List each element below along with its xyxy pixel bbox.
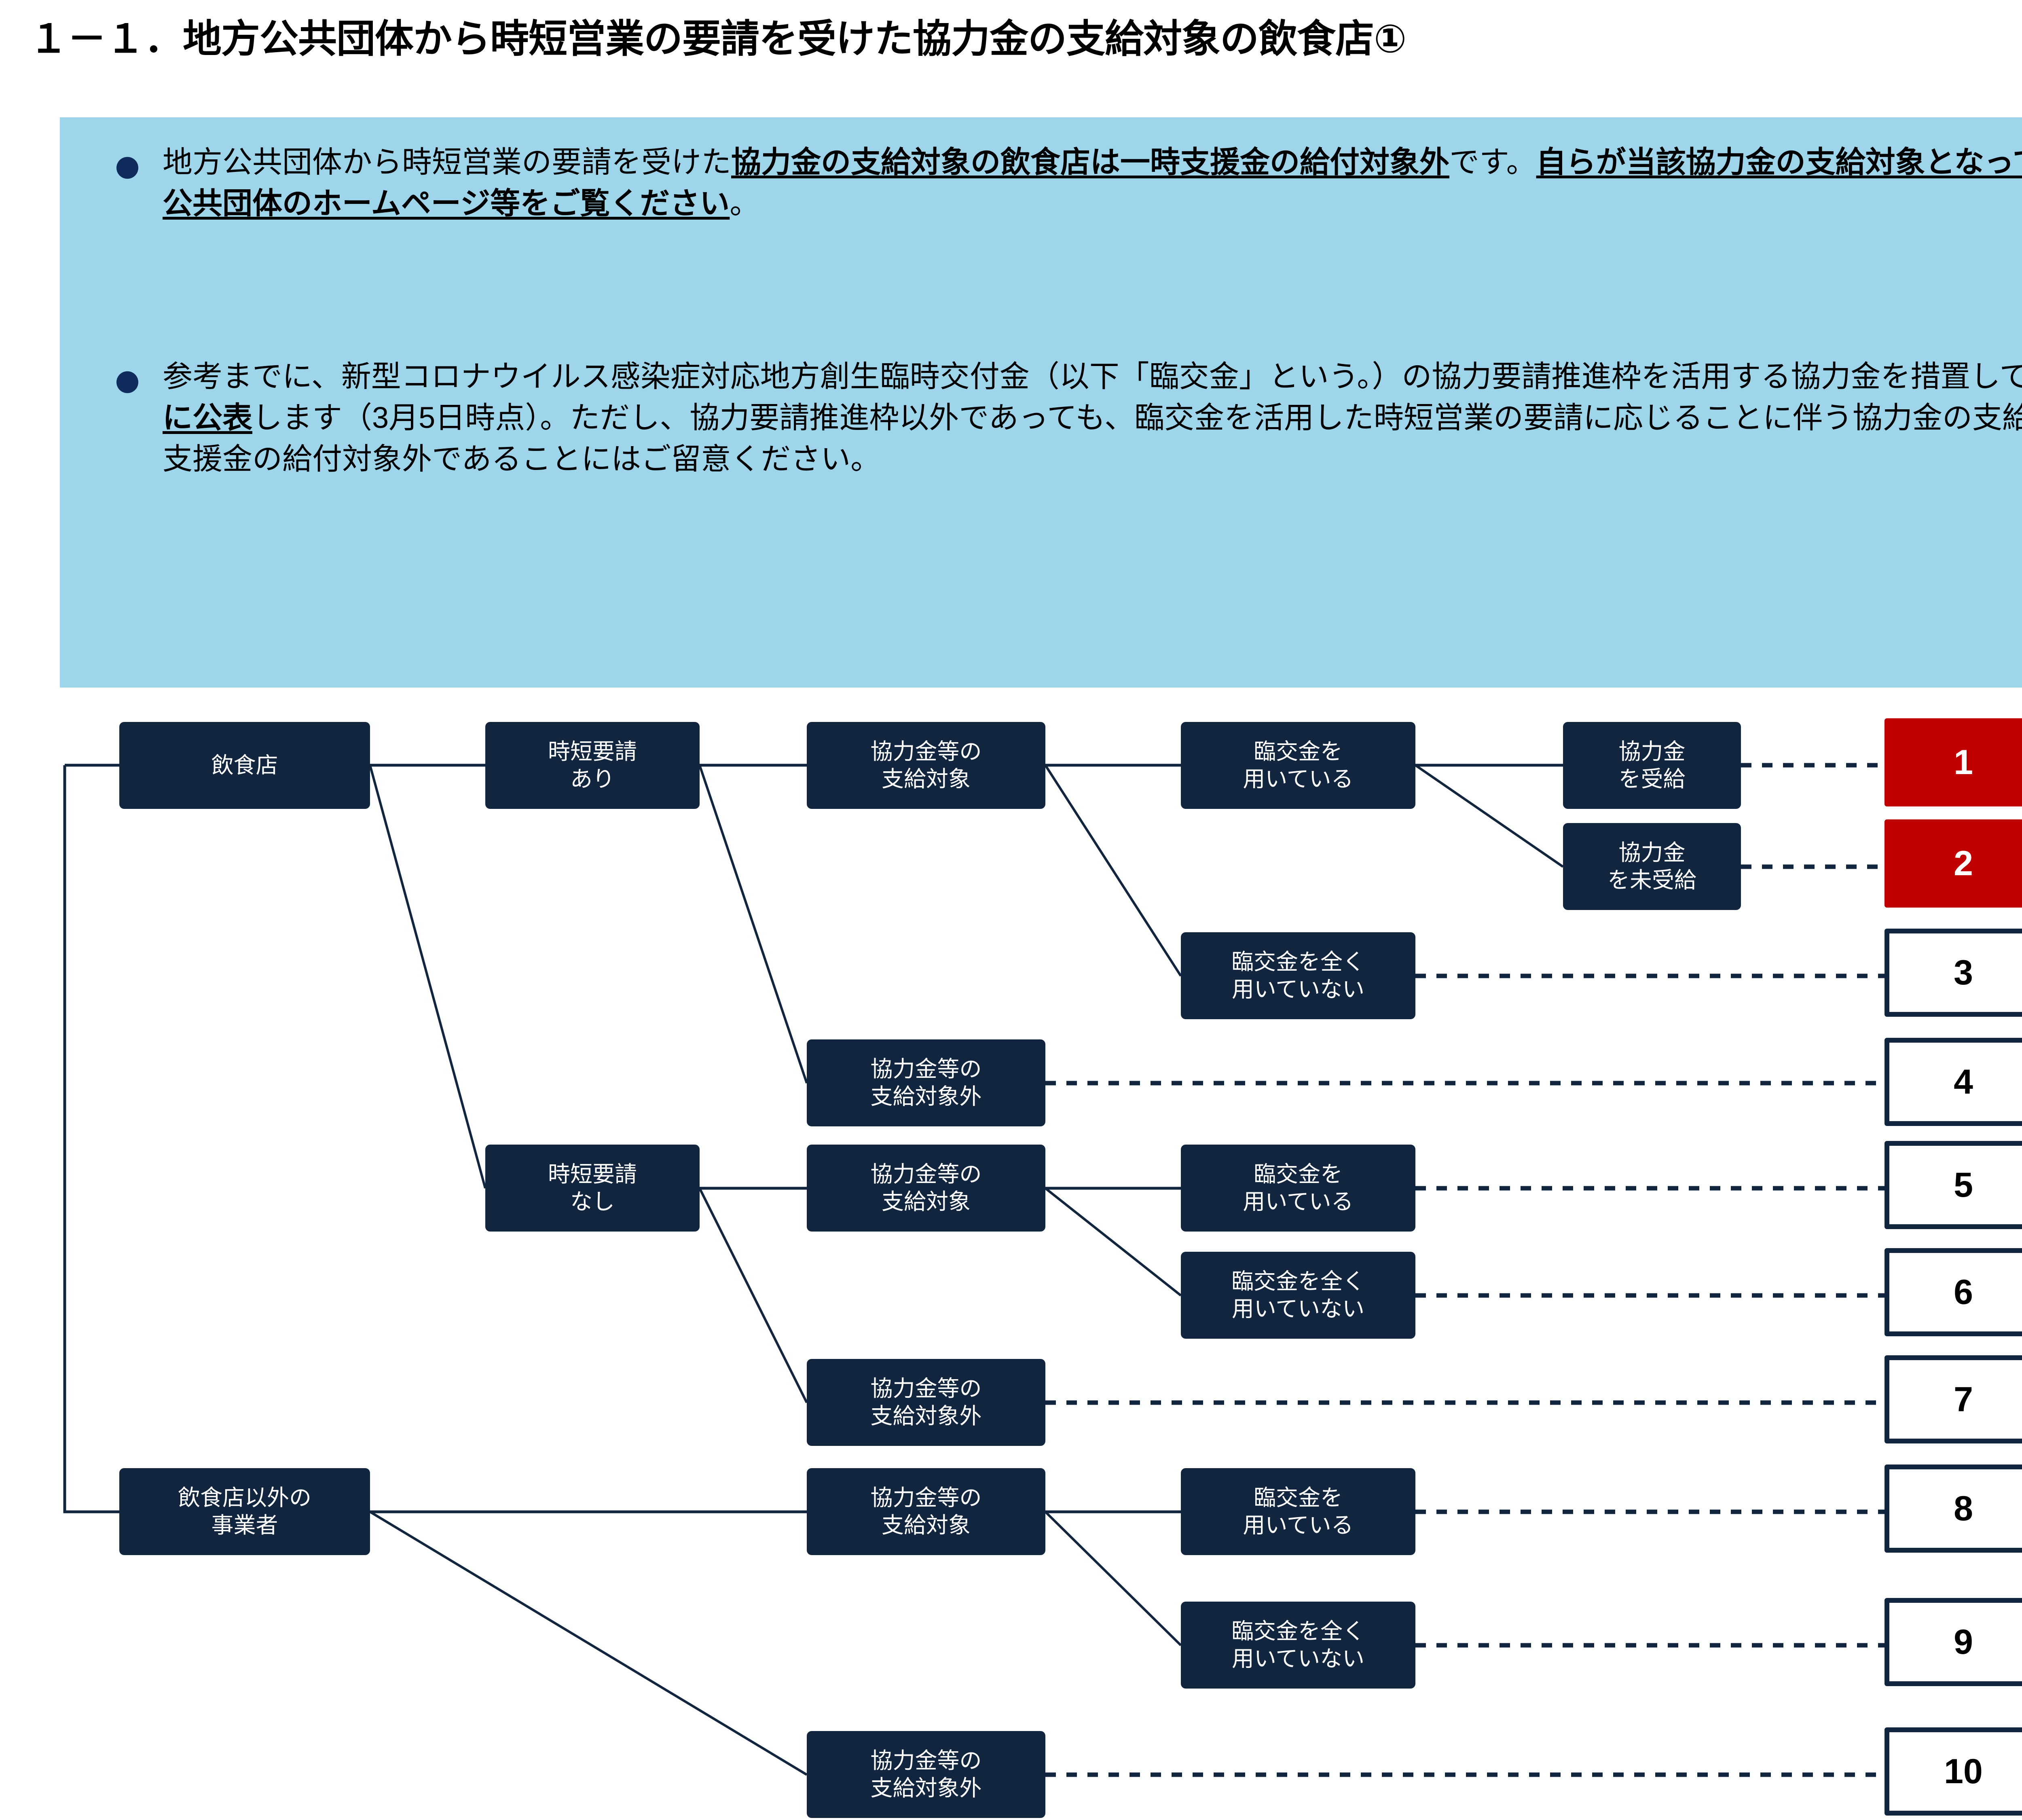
diagram-node-line: なし <box>570 1188 615 1215</box>
outcome-box-6: 6 <box>1885 1248 2022 1336</box>
outcome-box-9: 9 <box>1885 1598 2022 1686</box>
diagram-node-line: 協力金等の <box>870 1484 981 1511</box>
outcome-box-4: 4 <box>1885 1038 2022 1126</box>
note-bullet-2-text: 参考までに、新型コロナウイルス感染症対応地方創生臨時交付金（以下「臨交金」という… <box>163 356 2022 480</box>
outcome-box-7: 7 <box>1885 1355 2022 1443</box>
diagram-node-line: 臨交金を全く <box>1231 948 1365 976</box>
diagram-node-non-restaurant: 飲食店以外の事業者 <box>119 1468 370 1555</box>
note-bullet-1: 地方公共団体から時短営業の要請を受けた協力金の支給対象の飲食店は一時支援金の給付… <box>60 142 2022 224</box>
diagram-node-line: 協力金等の <box>870 738 981 765</box>
note-bullet-1-text: 地方公共団体から時短営業の要請を受けた協力金の支給対象の飲食店は一時支援金の給付… <box>163 142 2022 224</box>
diagram-node-rinkou-unused-3: 臨交金を全く用いていない <box>1181 1602 1415 1689</box>
diagram-node-req-no: 時短要請なし <box>485 1145 700 1232</box>
diagram-node-line: 支給対象外 <box>870 1403 981 1430</box>
outcome-box-8: 8 <box>1885 1464 2022 1553</box>
diagram-node-req-yes: 時短要請あり <box>485 722 700 809</box>
note-plain-text: 。 <box>730 186 759 220</box>
decision-tree-diagram: 飲食店時短要請あり協力金等の支給対象臨交金を用いている協力金を受給協力金を未受給… <box>0 704 2022 1820</box>
diagram-node-line: 用いている <box>1243 1188 1353 1215</box>
note-plain-text: 地方公共団体から時短営業の要請を受けた <box>163 145 731 179</box>
page-title: １－１．地方公共団体から時短営業の要請を受けた協力金の支給対象の飲食店① <box>29 7 2022 63</box>
outcome-box-5: 5 <box>1885 1141 2022 1229</box>
diagram-node-line: 支給対象外 <box>870 1083 981 1110</box>
diagram-node-line: 臨交金を <box>1254 1484 1343 1511</box>
diagram-node-subsidy-no-1: 協力金等の支給対象外 <box>807 1039 1045 1126</box>
diagram-node-coop-not-received: 協力金を未受給 <box>1563 823 1741 910</box>
diagram-node-subsidy-yes-2: 協力金等の支給対象 <box>807 1145 1045 1232</box>
diagram-node-subsidy-yes-3: 協力金等の支給対象 <box>807 1468 1045 1555</box>
diagram-node-subsidy-no-3: 協力金等の支給対象外 <box>807 1731 1045 1818</box>
diagram-node-line: 臨交金を <box>1254 738 1343 765</box>
diagram-node-rinkou-unused-2: 臨交金を全く用いていない <box>1181 1252 1415 1339</box>
diagram-node-line: あり <box>570 766 615 793</box>
diagram-node-rinkou-used-3: 臨交金を用いている <box>1181 1468 1415 1555</box>
note-emphasis-text: 協力金の支給対象の飲食店は一時支援金の給付対象外 <box>731 145 1449 179</box>
note-plain-text: です。 <box>1449 145 1536 179</box>
diagram-node-line: 用いていない <box>1232 1645 1364 1672</box>
diagram-node-line: 用いている <box>1243 766 1353 793</box>
outcome-box-10: 10 <box>1885 1727 2022 1816</box>
diagram-node-coop-received: 協力金を受給 <box>1563 722 1741 809</box>
diagram-node-line: 用いていない <box>1232 1295 1364 1323</box>
diagram-node-line: 時短要請 <box>548 738 637 765</box>
diagram-node-line: 臨交金を全く <box>1231 1268 1365 1295</box>
diagram-node-line: 用いていない <box>1232 976 1364 1003</box>
diagram-node-line: 協力金 <box>1618 738 1685 765</box>
diagram-node-rinkou-used-2: 臨交金を用いている <box>1181 1145 1415 1232</box>
diagram-node-line: を未受給 <box>1607 867 1696 894</box>
outcome-box-1: 1 <box>1885 718 2022 806</box>
note-callout-box: 地方公共団体から時短営業の要請を受けた協力金の支給対象の飲食店は一時支援金の給付… <box>60 117 2022 688</box>
bullet-dot-icon <box>116 157 138 179</box>
diagram-node-subsidy-no-2: 協力金等の支給対象外 <box>807 1359 1045 1446</box>
diagram-node-line: 支給対象外 <box>870 1775 981 1802</box>
diagram-node-line: 臨交金を <box>1254 1161 1343 1188</box>
diagram-node-line: 支給対象 <box>882 766 971 793</box>
diagram-node-rinkou-unused-1: 臨交金を全く用いていない <box>1181 932 1415 1019</box>
diagram-node-line: 時短要請 <box>548 1161 637 1188</box>
note-plain-text: 参考までに、新型コロナウイルス感染症対応地方創生臨時交付金（以下「臨交金」という… <box>163 360 2022 393</box>
diagram-node-line: 協力金等の <box>870 1056 981 1083</box>
diagram-node-line: 協力金等の <box>870 1375 981 1402</box>
diagram-node-line: 飲食店以外の <box>178 1484 311 1511</box>
diagram-node-line: 飲食店 <box>211 752 278 779</box>
diagram-node-line: 協力金等の <box>870 1747 981 1774</box>
diagram-node-line: 協力金等の <box>870 1161 981 1188</box>
diagram-node-rinkou-used-1: 臨交金を用いている <box>1181 722 1415 809</box>
outcome-box-3: 3 <box>1885 929 2022 1017</box>
note-bullet-2: 参考までに、新型コロナウイルス感染症対応地方創生臨時交付金（以下「臨交金」という… <box>60 356 2022 480</box>
diagram-node-line: 事業者 <box>211 1512 278 1539</box>
bullet-dot-icon <box>116 371 138 393</box>
diagram-node-line: を受給 <box>1618 766 1685 793</box>
outcome-box-2: 2 <box>1885 819 2022 908</box>
diagram-node-line: 用いている <box>1243 1512 1353 1539</box>
diagram-node-line: 協力金 <box>1618 839 1685 866</box>
note-plain-text: します（3月5日時点）。ただし、協力要請推進枠以外であっても、臨交金を活用した時… <box>163 401 2022 476</box>
diagram-node-line: 臨交金を全く <box>1231 1618 1365 1645</box>
diagram-node-line: 支給対象 <box>882 1512 971 1539</box>
diagram-node-line: 支給対象 <box>882 1188 971 1215</box>
diagram-node-restaurant: 飲食店 <box>119 722 370 809</box>
diagram-node-subsidy-yes-1: 協力金等の支給対象 <box>807 722 1045 809</box>
